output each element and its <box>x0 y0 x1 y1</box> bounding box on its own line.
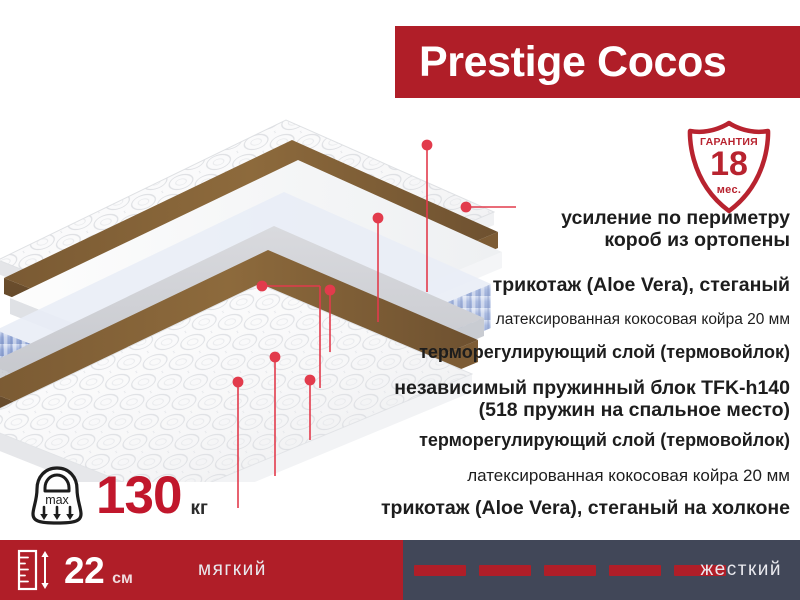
layer-label-spring-block: независимый пружинный блок TFK-h140 (518… <box>394 378 790 422</box>
firmness-scale <box>414 565 726 576</box>
layer-label-thermofelt-top: терморегулирующий слой (термовойлок) <box>419 342 790 362</box>
firmness-segment <box>479 565 531 576</box>
bottom-bar: 22 см мягкий жесткий <box>0 540 800 600</box>
kettlebell-icon: max <box>30 464 84 526</box>
height-value: 22 <box>64 552 104 589</box>
firmness-segment <box>609 565 661 576</box>
layer-label-perimeter-reinforcement: усиление по периметру короб из ортопены <box>561 208 790 252</box>
firmness-segment <box>544 565 596 576</box>
product-infographic: Prestige Cocos ГАРАНТИЯ 18 мес. усиление… <box>0 0 800 600</box>
layer-label-coir-top: латексированная кокосовая койра 20 мм <box>496 311 790 328</box>
layer-label-thermofelt-bottom: терморегулирующий слой (термовойлок) <box>419 430 790 450</box>
firmness-block: мягкий жесткий <box>403 540 800 600</box>
max-weight-block: max 130 кг <box>30 462 208 528</box>
ruler-icon <box>16 548 56 592</box>
firmness-hard-label: жесткий <box>700 559 782 581</box>
firmness-soft-label: мягкий <box>198 559 267 581</box>
kettlebell-max-label: max <box>45 493 69 507</box>
layer-label-knit-top: трикотаж (Aloe Vera), стеганый <box>493 275 790 297</box>
height-unit: см <box>112 570 133 600</box>
max-weight-value: 130 <box>96 469 181 522</box>
layer-label-knit-bottom: трикотаж (Aloe Vera), стеганый на холкон… <box>381 498 790 520</box>
firmness-segment <box>414 565 466 576</box>
max-weight-unit: кг <box>190 498 207 528</box>
layer-label-coir-bottom: латексированная кокосовая койра 20 мм <box>467 466 790 485</box>
